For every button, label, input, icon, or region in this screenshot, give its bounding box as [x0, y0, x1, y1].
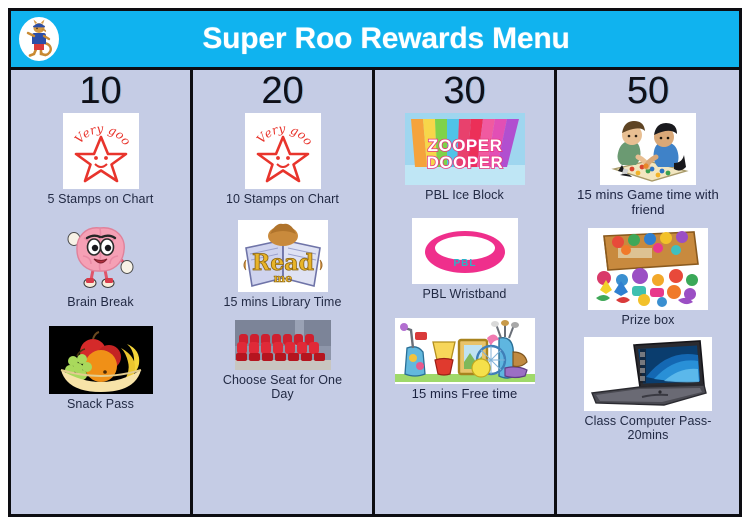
- column-points-value: 10: [79, 72, 121, 111]
- column-points-value: 20: [261, 72, 303, 111]
- laptop-computer-icon: [584, 337, 712, 411]
- reward-item-label: PBL Wristband: [423, 287, 507, 301]
- zooper-dooper-iceblock-icon: ZOOPER DOOPER: [405, 113, 525, 185]
- very-good-star-stamp-icon: Very good: [63, 113, 139, 189]
- reward-item[interactable]: ZOOPER DOOPER PBL Ice Block: [381, 113, 548, 202]
- theatre-seats-icon: [235, 320, 331, 370]
- page-title: Super Roo Rewards Menu: [11, 22, 739, 56]
- reward-item-label: Choose Seat for One Day: [223, 373, 343, 402]
- rewards-columns: 10: [11, 70, 739, 514]
- reward-item-label: Prize box: [621, 313, 674, 327]
- reward-item[interactable]: Read me 15 mins Library Time: [199, 220, 366, 309]
- fruit-bowl-icon: [49, 326, 153, 394]
- reward-item[interactable]: Prize box: [563, 228, 733, 327]
- reward-item[interactable]: PBL PBL Wristband: [381, 218, 548, 301]
- reward-column-30: 30 15 mins Free time: [375, 70, 557, 514]
- reward-column-10: 10: [11, 70, 193, 514]
- svg-text:DOOPER: DOOPER: [426, 153, 503, 172]
- svg-text:me: me: [273, 272, 292, 285]
- reward-item-label: 5 Stamps on Chart: [48, 192, 154, 206]
- svg-text:PBL: PBL: [453, 258, 476, 269]
- poster-header: Super Roo Rewards Menu: [11, 11, 739, 70]
- very-good-star-stamp-icon: Very good: [245, 113, 321, 189]
- prize-box-toys-icon: [588, 228, 708, 310]
- reward-column-50: 50: [557, 70, 739, 514]
- reward-item[interactable]: Choose Seat for One Day: [199, 320, 366, 402]
- reward-item[interactable]: 15 mins Game time with friend: [563, 113, 733, 218]
- rewards-menu-poster: Super Roo Rewards Menu 10: [0, 0, 750, 525]
- kangaroo-mascot-icon: [19, 17, 59, 61]
- reward-item-label: 10 Stamps on Chart: [226, 192, 339, 206]
- reward-item-label: PBL Ice Block: [425, 188, 504, 202]
- column-points-value: 30: [443, 72, 485, 111]
- reward-item[interactable]: Snack Pass: [17, 326, 184, 411]
- kids-board-game-icon: [600, 113, 696, 185]
- reward-item[interactable]: 15 mins Free time: [381, 318, 548, 402]
- reward-item-label: 15 mins Game time with friend: [573, 188, 723, 218]
- reward-item-label: 15 mins Library Time: [223, 295, 341, 309]
- reward-item[interactable]: Class Computer Pass-20mins: [563, 337, 733, 443]
- toys-clipart-icon: [395, 318, 535, 384]
- reward-item-label: 15 mins Free time: [412, 387, 518, 402]
- reward-item-label: Class Computer Pass-20mins: [573, 414, 723, 443]
- pbl-wristband-icon: PBL: [412, 218, 518, 284]
- reward-item[interactable]: Very good 10 Stamps on Chart: [199, 113, 366, 206]
- reward-item[interactable]: Brain Break: [17, 220, 184, 309]
- brain-character-icon: [64, 220, 138, 292]
- reward-column-20: 20 Very good: [193, 70, 375, 514]
- reward-item[interactable]: Very good 5 Stamps on Chart: [17, 113, 184, 206]
- column-points-value: 50: [627, 72, 669, 111]
- read-me-book-icon: Read me: [238, 220, 328, 292]
- reward-item-label: Snack Pass: [67, 397, 134, 411]
- poster-frame: Super Roo Rewards Menu 10: [8, 8, 742, 517]
- reward-item-label: Brain Break: [67, 295, 133, 309]
